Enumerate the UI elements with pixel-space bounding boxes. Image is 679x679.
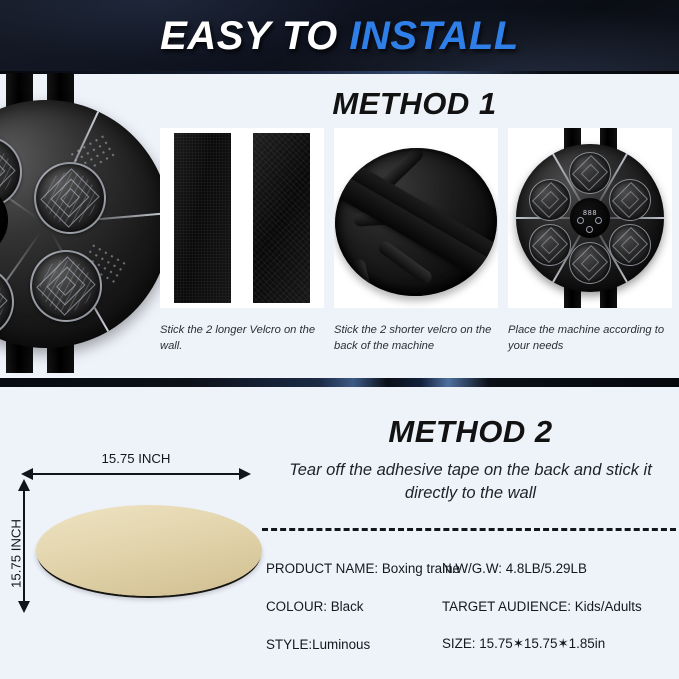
machine-back-view (334, 142, 498, 301)
target-pad (529, 179, 571, 221)
section-divider (0, 378, 679, 387)
height-dimension-label: 15.75 INCH (9, 494, 24, 614)
spec-colour: COLOUR: Black (266, 599, 442, 614)
hero-boxing-machine: 888 (0, 100, 170, 348)
target-pad (30, 250, 102, 322)
step-caption-2: Stick the 2 shorter velcro on the back o… (334, 322, 498, 354)
method2-heading: METHOD 2 (262, 414, 679, 450)
target-pad (34, 162, 106, 234)
product-spec-table: PRODUCT NAME: Boxing traine N.W/G.W: 4.8… (266, 549, 679, 663)
step-caption-3: Place the machine according to your need… (508, 322, 672, 354)
mode-button[interactable] (595, 217, 602, 224)
infographic-page: EASY TO INSTALL METHOD 1 888 (0, 0, 679, 679)
step-caption-1: Stick the 2 longer Velcro on the wall. (160, 322, 324, 354)
velcro-strip-hook (253, 133, 310, 303)
method2-subtitle: Tear off the adhesive tape on the back a… (262, 459, 679, 506)
spec-product-name: PRODUCT NAME: Boxing traine (266, 561, 442, 576)
page-title: EASY TO INSTALL (0, 14, 679, 59)
spec-style: STYLE:Luminous (266, 637, 442, 652)
target-pad (529, 224, 571, 266)
spec-size: SIZE: 15.75✶15.75✶1.85in (442, 636, 679, 652)
led-display: 888 (583, 209, 597, 217)
spec-weight: N.W/G.W: 4.8LB/5.29LB (442, 561, 679, 576)
header-banner: EASY TO INSTALL (0, 0, 679, 74)
target-pad (569, 242, 611, 284)
target-pad (0, 136, 22, 208)
spec-divider (262, 528, 676, 531)
page-title-part1: EASY TO (160, 14, 338, 58)
page-title-part2: INSTALL (349, 14, 518, 58)
step-image-velcro-strips (160, 128, 324, 308)
step-image-machine-back (334, 128, 498, 308)
spec-row: PRODUCT NAME: Boxing traine N.W/G.W: 4.8… (266, 549, 679, 587)
method1-heading: METHOD 1 (150, 86, 679, 122)
spec-row: COLOUR: Black TARGET AUDIENCE: Kids/Adul… (266, 587, 679, 625)
spec-target-audience: TARGET AUDIENCE: Kids/Adults (442, 599, 679, 614)
step-image-machine-mounted: 888 (508, 128, 672, 308)
velcro-strip-soft (174, 133, 231, 303)
machine-front-view: 888 (516, 144, 664, 292)
width-dimension-label: 15.75 INCH (32, 451, 240, 466)
spec-row: STYLE:Luminous SIZE: 15.75✶15.75✶1.85in (266, 625, 679, 663)
volume-button[interactable] (586, 226, 593, 233)
target-pad (569, 152, 611, 194)
method1-step-images: 888 (160, 128, 672, 308)
power-button[interactable] (577, 217, 584, 224)
control-panel: 888 (570, 198, 610, 238)
method1-captions: Stick the 2 longer Velcro on the wall. S… (160, 322, 672, 354)
width-dimension-arrow (32, 473, 240, 475)
target-pad (609, 224, 651, 266)
adhesive-pad-disc (36, 505, 262, 596)
target-pad (609, 179, 651, 221)
